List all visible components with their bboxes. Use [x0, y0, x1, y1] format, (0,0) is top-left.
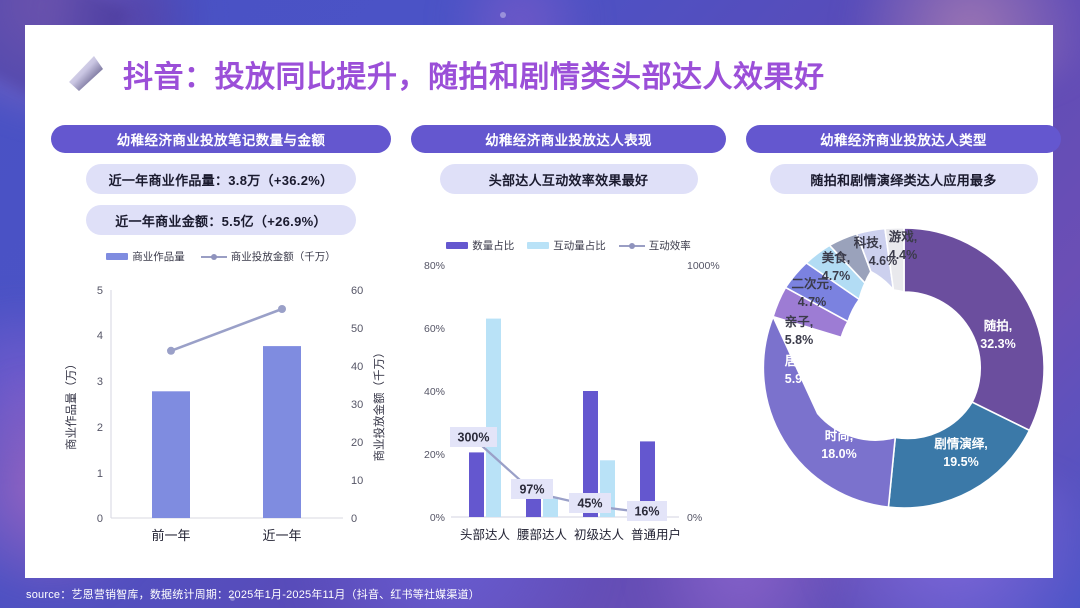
panel-left-header: 幼稚经济商业投放笔记数量与金额 [51, 125, 391, 153]
slide-header: 抖音：投放同比提升，随拍和剧情类头部达人效果好 [25, 35, 1053, 113]
axis-tick: 40% [424, 386, 445, 398]
donut-slice-suipai [904, 228, 1044, 430]
donut-label-name: 随拍 [984, 318, 1009, 333]
line-point-prev-year [167, 347, 175, 355]
line-amount [171, 309, 282, 351]
slide-card: 抖音：投放同比提升，随拍和剧情类头部达人效果好 幼稚经济商业投放笔记数量与金额 … [25, 25, 1053, 578]
legend-item-count-share: 数量占比 [446, 238, 514, 253]
axis-tick: 60% [424, 323, 445, 335]
axis-tick-right: 0% [687, 512, 702, 524]
chart-left-combo: 5 4 3 2 1 0 60 50 40 30 20 10 [51, 268, 391, 553]
legend-label: 商业投放金额（千万） [231, 249, 336, 264]
axis-tick: 3 [97, 376, 103, 388]
axis-tick-right: 0 [351, 513, 357, 525]
axis-category-label: 普通用户 [631, 527, 681, 542]
panel-mid-subtitle: 头部达人互动效率效果最好 [440, 164, 698, 194]
chart-right-donut: 随拍, 32.3% 剧情演绎, 19.5% 时尚, 18.0% 居家, 5.9%… [746, 208, 1061, 533]
axis-tick: 0% [430, 512, 445, 524]
data-label-efficiency-1: 300% [458, 431, 490, 445]
decorative-dot [500, 12, 506, 18]
panel-row: 幼稚经济商业投放笔记数量与金额 近一年商业作品量：3.8万（+36.2%） 近一… [25, 125, 1053, 553]
axis-tick-right: 60 [351, 285, 363, 297]
axis-tick-right: 1000% [687, 260, 720, 272]
legend-swatch-line-icon [201, 253, 227, 261]
panel-notes-volume-amount: 幼稚经济商业投放笔记数量与金额 近一年商业作品量：3.8万（+36.2%） 近一… [51, 125, 391, 553]
data-label-efficiency-4: 16% [634, 505, 659, 519]
legend-label: 商业作品量 [132, 249, 185, 264]
donut-label-value: 18.0% [821, 447, 856, 461]
axis-tick-right: 10 [351, 475, 363, 487]
axis-tick: 5 [97, 285, 103, 297]
axis-tick: 4 [97, 330, 103, 342]
panel-creator-performance: 幼稚经济商业投放达人表现 头部达人互动效率效果最好 数量占比 互动量占比 互动效… [411, 125, 726, 553]
data-label-efficiency-3: 45% [577, 497, 602, 511]
bar-interaction-share-1 [486, 319, 501, 517]
svg-text:居家,: 居家, [785, 353, 814, 368]
donut-label-name: 亲子 [785, 314, 811, 329]
source-footer: source：艺恩营销智库，数据统计周期：2025年1月-2025年11月（抖音… [0, 586, 1080, 602]
axis-y-right-title: 商业投放金额（千万） [372, 347, 386, 462]
axis-category-label: 前一年 [151, 528, 190, 543]
chart-mid-combo: 80% 60% 40% 20% 0% 1000% 0% [411, 255, 726, 550]
legend-item-interaction-share: 互动量占比 [527, 238, 606, 253]
axis-tick-right: 40 [351, 361, 363, 373]
axis-category-label: 初级达人 [574, 528, 625, 542]
donut-label-value: 5.9% [785, 372, 814, 386]
panel-mid-header: 幼稚经济商业投放达人表现 [411, 125, 726, 153]
panel-left-stat-works: 近一年商业作品量：3.8万（+36.2%） [86, 164, 356, 194]
legend-swatch-line-icon [619, 242, 645, 250]
axis-tick: 0 [97, 513, 103, 525]
legend-label: 数量占比 [472, 238, 514, 253]
legend-label: 互动量占比 [553, 238, 606, 253]
donut-label-name: 美食 [822, 250, 848, 265]
bar-works-recent-year [263, 346, 301, 518]
axis-tick: 20% [424, 449, 445, 461]
legend-label: 互动效率 [649, 238, 691, 253]
donut-label-name: 剧情演绎 [934, 436, 985, 451]
legend-item-amount: 商业投放金额（千万） [201, 249, 336, 264]
axis-tick: 80% [424, 260, 445, 272]
legend-swatch-bar-icon [106, 253, 128, 260]
svg-text:亲子,: 亲子, [785, 314, 814, 329]
donut-label-value: 5.8% [785, 333, 814, 347]
svg-text:美食,: 美食, [822, 250, 851, 265]
donut-label-name: 居家 [785, 353, 811, 368]
page-title: 抖音：投放同比提升，随拍和剧情类头部达人效果好 [123, 52, 825, 96]
panel-right-header: 幼稚经济商业投放达人类型 [746, 125, 1061, 153]
svg-text:剧情演绎,: 剧情演绎, [934, 436, 988, 451]
chart-left-legend: 商业作品量 商业投放金额（千万） [51, 249, 391, 264]
donut-label-name: 游戏 [889, 229, 915, 244]
svg-text:随拍,: 随拍, [984, 318, 1013, 333]
donut-label-value: 4.7% [822, 269, 851, 283]
donut-label-name: 科技 [854, 235, 880, 250]
diamond-logo-icon [63, 52, 107, 96]
axis-tick: 1 [97, 468, 103, 480]
bar-count-share-2 [526, 497, 541, 518]
axis-tick-right: 20 [351, 437, 363, 449]
donut-label-value: 32.3% [980, 337, 1015, 351]
axis-tick: 2 [97, 422, 103, 434]
donut-label-value: 4.4% [889, 248, 918, 262]
bar-interaction-share-2 [543, 498, 558, 518]
panel-right-subtitle: 随拍和剧情演绎类达人应用最多 [770, 164, 1038, 194]
bar-works-prev-year [152, 391, 190, 518]
panel-creator-types: 幼稚经济商业投放达人类型 随拍和剧情演绎类达人应用最多 [746, 125, 1061, 553]
panel-left-stat-amount: 近一年商业金额：5.5亿（+26.9%） [86, 205, 356, 235]
axis-category-label: 近一年 [262, 528, 301, 543]
donut-label-value: 4.7% [798, 295, 827, 309]
donut-label-name: 时尚 [825, 428, 850, 443]
chart-mid-legend: 数量占比 互动量占比 互动效率 [411, 238, 726, 253]
legend-swatch-bar-icon [527, 242, 549, 249]
axis-y-left-title: 商业作品量（万） [64, 358, 78, 450]
legend-item-efficiency: 互动效率 [619, 238, 691, 253]
svg-text:科技,: 科技, [854, 235, 883, 250]
line-point-recent-year [278, 305, 286, 313]
data-label-efficiency-2: 97% [519, 483, 544, 497]
svg-text:游戏,: 游戏, [889, 229, 918, 244]
donut-label-value: 19.5% [943, 455, 978, 469]
axis-tick-right: 50 [351, 323, 363, 335]
axis-tick-right: 30 [351, 399, 363, 411]
axis-category-label: 头部达人 [460, 527, 511, 542]
legend-item-works: 商业作品量 [106, 249, 185, 264]
legend-swatch-bar-icon [446, 242, 468, 249]
donut-slice-shishang [763, 317, 895, 507]
axis-category-label: 腰部达人 [517, 527, 568, 542]
line-interaction-efficiency [477, 441, 648, 513]
svg-text:时尚,: 时尚, [825, 428, 854, 443]
bar-count-share-1 [469, 452, 484, 517]
